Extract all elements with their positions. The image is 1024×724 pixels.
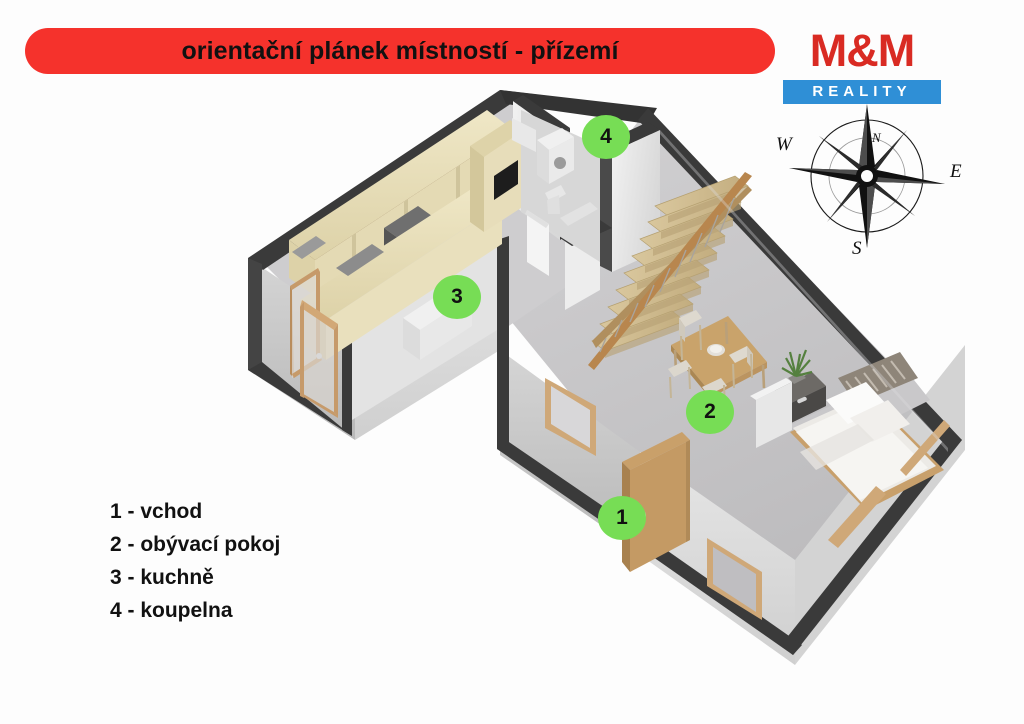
room-marker-2[interactable]: 2: [686, 390, 734, 434]
room-marker-4-label: 4: [600, 125, 612, 149]
compass-label-north: N: [872, 130, 881, 146]
page-title: orientační plánek místností - přízemí: [181, 37, 618, 66]
page-root: 1 2 3 4 orientační plánek místností - př…: [0, 0, 1024, 724]
room-marker-3-label: 3: [451, 285, 463, 309]
legend-item-2: 2 - obývací pokoj: [110, 528, 280, 561]
legend-item-4: 4 - koupelna: [110, 594, 280, 627]
room-marker-2-label: 2: [704, 400, 716, 424]
compass-rose-icon: [762, 98, 972, 278]
logo-brand-text: M&M: [783, 24, 941, 78]
room-marker-3[interactable]: 3: [433, 275, 481, 319]
compass-rose: W E S N: [762, 98, 972, 278]
compass-label-east: E: [950, 161, 962, 183]
legend-item-1: 1 - vchod: [110, 495, 280, 528]
room-marker-1[interactable]: 1: [598, 496, 646, 540]
room-legend: 1 - vchod 2 - obývací pokoj 3 - kuchně 4…: [110, 495, 280, 627]
legend-item-3: 3 - kuchně: [110, 561, 280, 594]
compass-label-west: W: [776, 134, 792, 156]
room-marker-1-label: 1: [616, 506, 628, 530]
compass-label-south: S: [852, 238, 862, 260]
room-marker-4[interactable]: 4: [582, 115, 630, 159]
title-banner: orientační plánek místností - přízemí: [25, 28, 775, 74]
